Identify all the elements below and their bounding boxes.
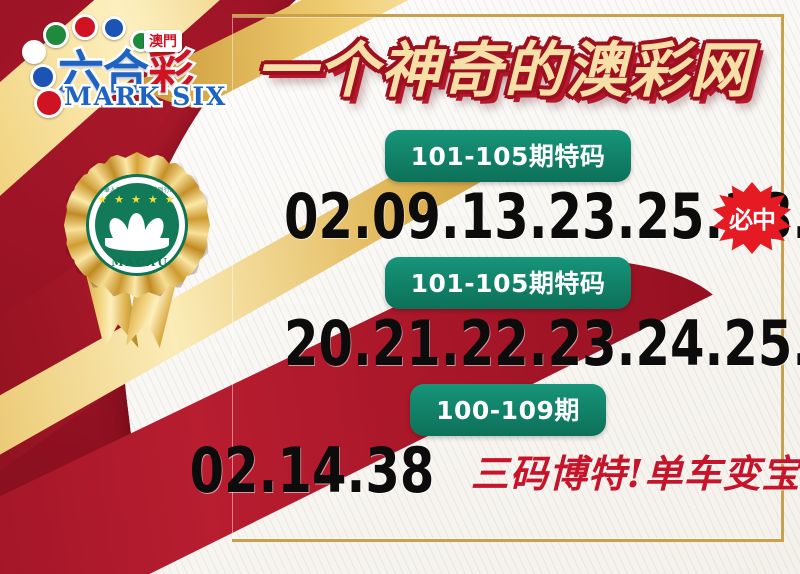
slogan-text: 三码博特!单车变宝马! [471,443,800,498]
period-badge-2[interactable]: 101-105期特码 [385,257,632,309]
brand-logo[interactable]: 六合彩 MARK SIX 澳門 [8,8,223,118]
period-badge-3[interactable]: 100-109期 [410,384,606,436]
numbers-row-1: 02.09.13.23.25.38.44.45 [284,184,732,249]
seal-country-label: MACAU [89,256,188,269]
numbers-row-3: 02.14.38 [189,438,434,503]
badge-wrap-1: 101-105期特码 [228,130,788,182]
guaranteed-hit-label: 必中 [729,200,775,235]
period-badge-1[interactable]: 101-105期特码 [385,130,632,182]
macau-emblem-icon: ★ ★ ★ ★ ★ [95,183,179,267]
badge-wrap-2: 101-105期特码 [228,257,788,309]
numbers-slogan-line: 02.14.38 三码博特!单车变宝马! [228,438,788,503]
water-waves-icon [105,238,169,251]
logo-region-tag: 澳門 [144,30,182,52]
result-row-3: 100-109期 02.14.38 三码博特!单车变宝马! [228,384,788,503]
result-row-1: 101-105期特码 02.09.13.23.25.38.44.45 [228,130,788,249]
seal-stars: ★ ★ ★ ★ ★ [95,195,179,206]
lottery-ball-blue-icon [30,64,56,90]
logo-english-name: MARK SIX [64,82,227,111]
promotional-poster: 六合彩 MARK SIX 澳門 一个神奇的澳彩网 中華人民共和國澳門特別行政區 … [0,0,800,574]
result-row-2: 101-105期特码 20.21.22.23.24.25.26.27.28.29 [228,257,788,376]
page-title: 一个神奇的澳彩网 [224,22,784,109]
seal-gold-medal: 中華人民共和國澳門特別行政區 ★ ★ ★ ★ ★ MACAU [64,152,210,298]
lottery-ball-white-icon [22,40,46,64]
badge-wrap-3: 100-109期 [228,384,788,436]
results-list: 101-105期特码 02.09.13.23.25.38.44.45 101-1… [228,130,788,511]
macau-certification-seal: 中華人民共和國澳門特別行政區 ★ ★ ★ ★ ★ MACAU [56,152,216,350]
numbers-row-2: 20.21.22.23.24.25.26.27.28.29 [284,311,732,376]
seal-inner-disc: 中華人民共和國澳門特別行政區 ★ ★ ★ ★ ★ MACAU [86,174,188,276]
